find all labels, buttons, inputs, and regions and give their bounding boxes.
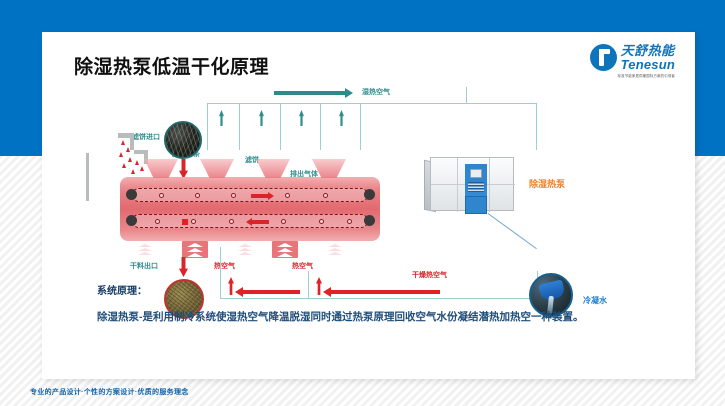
drive-drum-lower-right — [364, 215, 375, 226]
heatpump-red-outlet-marker — [182, 219, 188, 225]
condensate-leader-line — [488, 213, 537, 249]
heat-pump-display-screen — [470, 169, 482, 178]
label-hot-air-1: 热空气 — [214, 261, 235, 271]
slide-footer: 专业的产品设计·个性的方案设计·优质的服务理念 — [30, 387, 189, 397]
system-principle-heading: 系统原理： — [97, 282, 147, 297]
heat-pump-seam-v2 — [489, 158, 490, 212]
cutter-spray-4 — [128, 157, 132, 162]
lower-duct-riser — [220, 247, 221, 271]
upper-belt-direction-arrow-icon — [251, 194, 269, 198]
duct-divider-4 — [360, 103, 361, 150]
hot-air-inlet-faint-1 — [134, 241, 156, 257]
heat-pump-seam-v1 — [457, 158, 458, 212]
hot-air-inlet-faint-2 — [234, 241, 256, 257]
heat-pump-main-body — [430, 157, 514, 211]
system-principle-description: 除湿热泵-是利用制冷系统使湿热空气降温脱湿同时通过热泵原理回收空气水份凝结潜热加… — [97, 309, 584, 324]
page-title: 除湿热泵低温干化原理 — [74, 52, 269, 79]
outlet-discharge-arrow-icon — [179, 257, 188, 277]
slide-canvas: 除湿热泵低温干化原理 天舒热能 Tenesun 标准节能家居供暖国际方案的引领者 — [0, 0, 725, 406]
duct-divider-3 — [320, 103, 321, 150]
logo-row: 天舒热能 Tenesun — [590, 44, 675, 71]
roller — [323, 193, 328, 198]
cutter-spray-6 — [135, 160, 139, 165]
dryer-hopper-1 — [144, 159, 178, 178]
dryer-hopper-2 — [200, 159, 234, 178]
roller — [231, 193, 236, 198]
upper-conveyor-belt — [132, 188, 368, 202]
logo-cn-text: 天舒热能 — [621, 44, 675, 57]
cutter-spray-7 — [140, 166, 144, 171]
label-filter-cake-inlet: 滤饼进口 — [132, 132, 160, 142]
lower-belt-direction-arrow-icon — [251, 220, 269, 224]
drive-drum-lower-left — [126, 215, 137, 226]
logo-tagline: 标准节能家居供暖国际方案的引领者 — [618, 73, 675, 78]
cutter-step-2 — [130, 138, 134, 150]
duct-riser-to-heatpump — [466, 87, 467, 103]
logo-en-text: Tenesun — [621, 58, 675, 71]
lower-duct-divider — [308, 271, 309, 299]
roller — [195, 193, 200, 198]
drive-drum-upper-right — [364, 189, 375, 200]
cutter-support-post — [86, 153, 89, 201]
tenesun-circle-logo-icon — [590, 44, 617, 71]
filter-cake-cutter — [88, 133, 134, 179]
dehumidifying-heat-pump-cabinet — [424, 153, 518, 215]
hot-air-return-arrow-1-icon — [242, 290, 300, 294]
label-condensate-water: 冷凝水 — [583, 295, 607, 306]
dryer-hopper-3 — [256, 159, 290, 178]
hot-air-inlet-faint-3 — [324, 241, 346, 257]
cutter-spray-3 — [119, 152, 123, 157]
lower-conveyor-belt — [132, 214, 368, 228]
belt-dryer-body — [120, 177, 380, 241]
lower-duct-outline — [220, 271, 538, 299]
roller — [155, 219, 160, 224]
brand-logo: 天舒热能 Tenesun 标准节能家居供暖国际方案的引领者 — [555, 44, 675, 88]
roller — [159, 193, 164, 198]
roller — [347, 219, 352, 224]
hot-air-inlet-2-icon — [272, 241, 298, 258]
duct-divider-2 — [280, 103, 281, 150]
roller — [229, 219, 234, 224]
roller — [285, 193, 290, 198]
slide-card: 除湿热泵低温干化原理 天舒热能 Tenesun 标准节能家居供暖国际方案的引领者 — [42, 32, 695, 379]
duct-divider-1 — [239, 103, 240, 150]
label-humid-hot-air: 湿热空气 — [362, 87, 390, 97]
inlet-feed-arrow-icon — [179, 159, 188, 179]
heat-pump-vent-grill — [468, 182, 484, 192]
logo-wordmark: 天舒热能 Tenesun — [621, 44, 675, 71]
cutter-spray-1 — [121, 140, 125, 145]
drive-drum-upper-left — [126, 189, 137, 200]
humid-air-arrow-icon — [274, 91, 346, 95]
hot-air-inlet-1-icon — [182, 241, 208, 258]
cutter-spray-5 — [122, 163, 126, 168]
label-dehumidifying-heat-pump: 除湿热泵 — [529, 177, 565, 190]
upper-duct-outline — [207, 103, 537, 150]
roller — [319, 219, 324, 224]
roller — [191, 219, 196, 224]
roller — [281, 219, 286, 224]
wet-filter-cake-photo — [164, 121, 202, 159]
label-hot-air-2: 热空气 — [292, 261, 313, 271]
cutter-spray-8 — [131, 169, 135, 174]
label-dry-material-outlet: 干料出口 — [130, 261, 158, 271]
hot-air-return-arrow-2-icon — [330, 290, 440, 294]
heat-pump-lower-blue-door — [465, 196, 487, 214]
